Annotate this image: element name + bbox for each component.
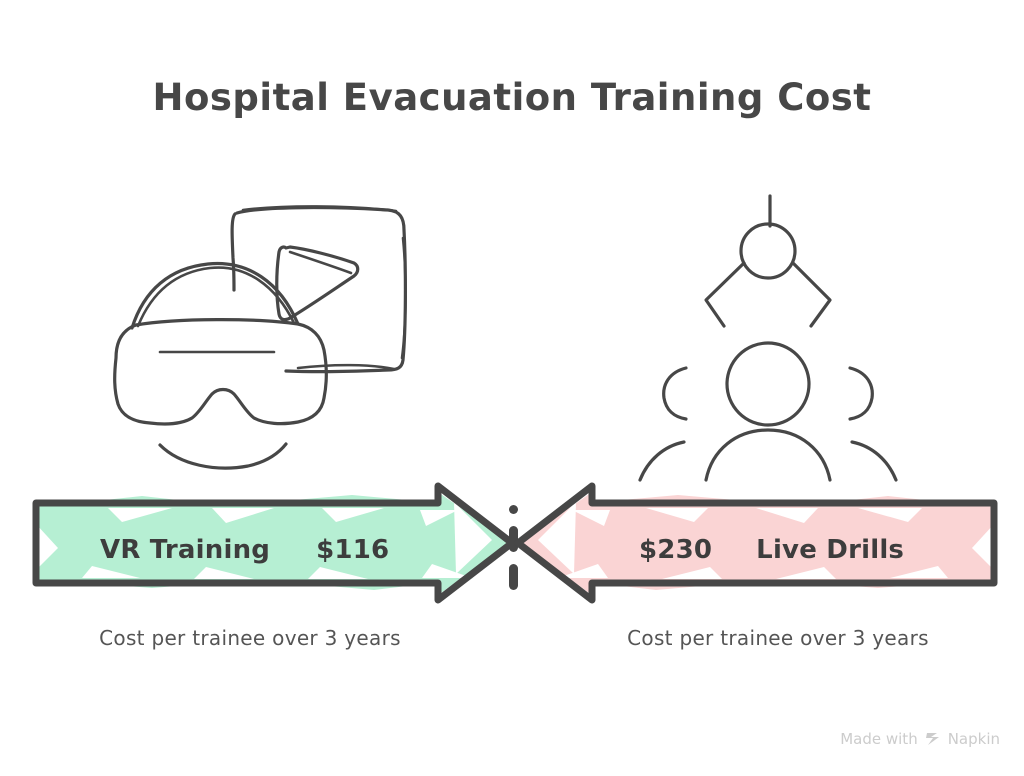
left-arrow-label: VR Training (100, 535, 270, 565)
watermark-prefix: Made with (840, 730, 917, 748)
group-training-icon (618, 188, 928, 480)
left-arrow-label-group: VR Training $116 (100, 529, 389, 571)
divider-dash-3 (509, 564, 518, 590)
infographic-canvas: Hospital Evacuation Training Cost (0, 0, 1024, 776)
napkin-logo-icon (925, 732, 941, 746)
watermark-brand: Napkin (948, 730, 1000, 748)
left-caption: Cost per trainee over 3 years (0, 626, 500, 650)
vr-headset-icon (108, 178, 438, 478)
divider-dash-2 (509, 526, 518, 552)
right-arrow-label-group: $230 Live Drills (639, 529, 904, 571)
right-arrow-value: $230 (639, 535, 712, 565)
page-title: Hospital Evacuation Training Cost (0, 76, 1024, 119)
right-caption: Cost per trainee over 3 years (528, 626, 1024, 650)
right-arrow-label: Live Drills (756, 535, 904, 565)
napkin-watermark[interactable]: Made with Napkin (840, 730, 1000, 748)
divider-dot-1 (509, 505, 518, 514)
left-arrow-value: $116 (316, 535, 389, 565)
